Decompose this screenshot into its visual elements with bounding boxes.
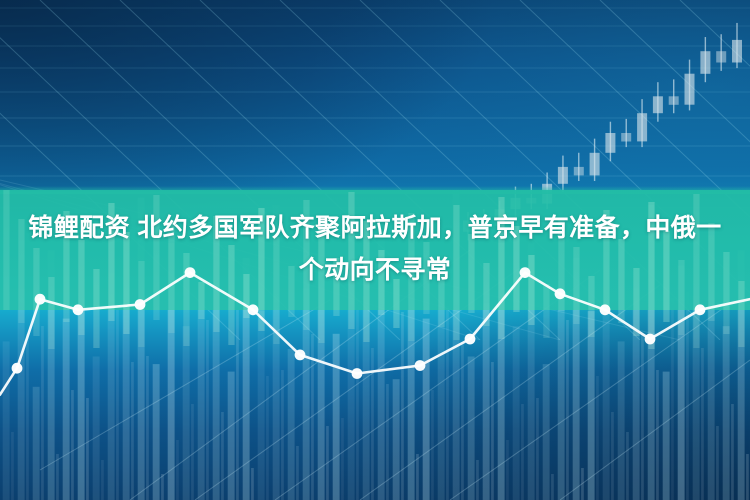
headline-line-1: 锦鲤配资 北约多国军队齐聚阿拉斯加，普京早有准备，中俄一 bbox=[8, 207, 742, 249]
headline: 锦鲤配资 北约多国军队齐聚阿拉斯加，普京早有准备，中俄一 个动向不寻常 bbox=[0, 207, 750, 291]
banner-image: 锦鲤配资 北约多国军队齐聚阿拉斯加，普京早有准备，中俄一 个动向不寻常 bbox=[0, 0, 750, 500]
headline-line-2: 个动向不寻常 bbox=[8, 249, 742, 291]
